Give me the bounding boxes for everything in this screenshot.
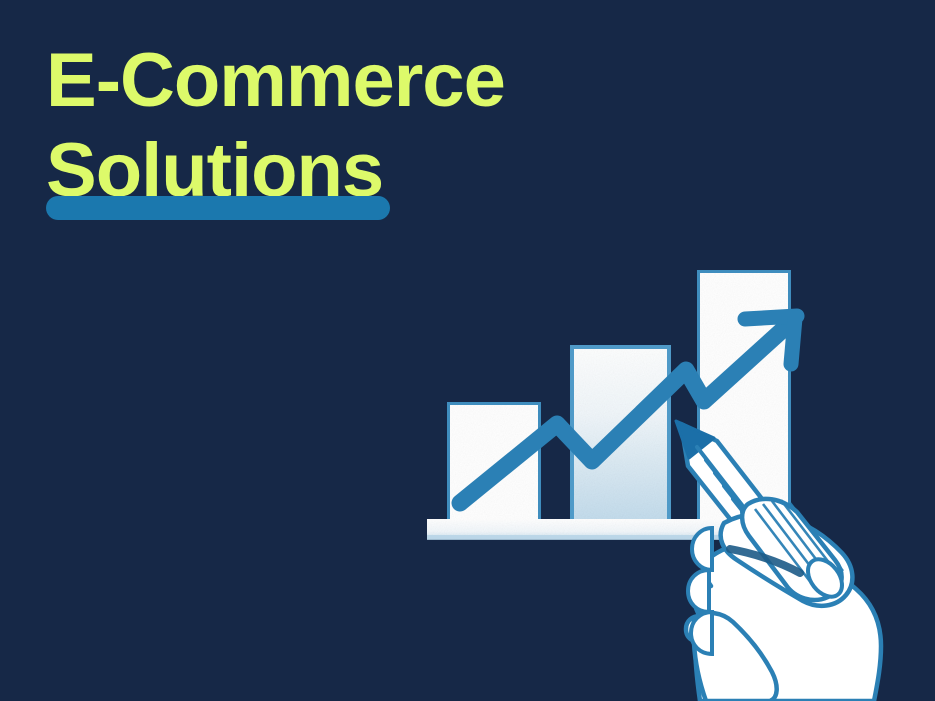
fingertips: [688, 528, 712, 654]
title-line-1: E-Commerce: [46, 38, 505, 124]
slide-title: E-Commerce Solutions: [46, 38, 505, 214]
slide-canvas: E-Commerce Solutions: [0, 0, 935, 701]
title-underline-accent: [46, 196, 390, 220]
